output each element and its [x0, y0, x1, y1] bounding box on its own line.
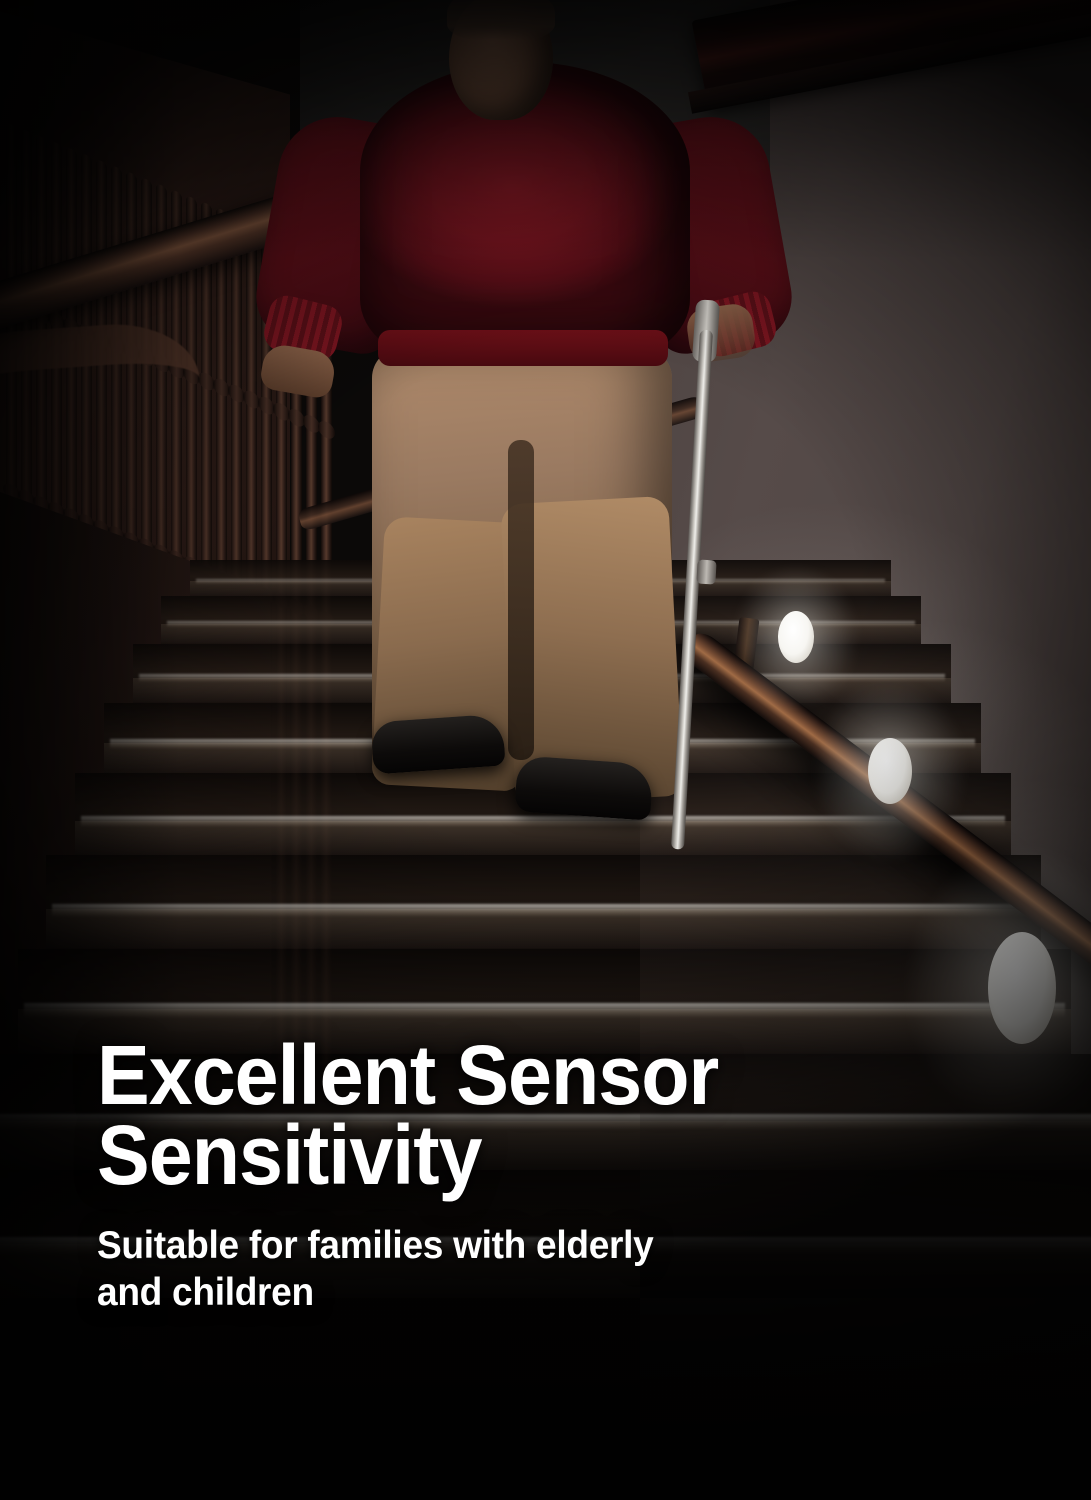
- marketing-text-block: Excellent Sensor Sensitivity Suitable fo…: [97, 1036, 977, 1317]
- walking-cane: [671, 330, 713, 850]
- stair-nosing-light: [24, 1003, 1066, 1018]
- left-shoe: [370, 713, 505, 774]
- sweater-hem: [378, 330, 668, 366]
- subheadline: Suitable for families with elderly and c…: [97, 1222, 819, 1317]
- cane-joint: [696, 560, 716, 585]
- hair: [447, 0, 555, 40]
- pants-seam: [508, 440, 534, 760]
- elderly-man: [0, 0, 1091, 880]
- sensor-light-bottom: [988, 932, 1056, 1044]
- headline: Excellent Sensor Sensitivity: [97, 1036, 924, 1196]
- stair-nosing-light: [52, 904, 1035, 917]
- product-marketing-image: Excellent Sensor Sensitivity Suitable fo…: [0, 0, 1091, 1500]
